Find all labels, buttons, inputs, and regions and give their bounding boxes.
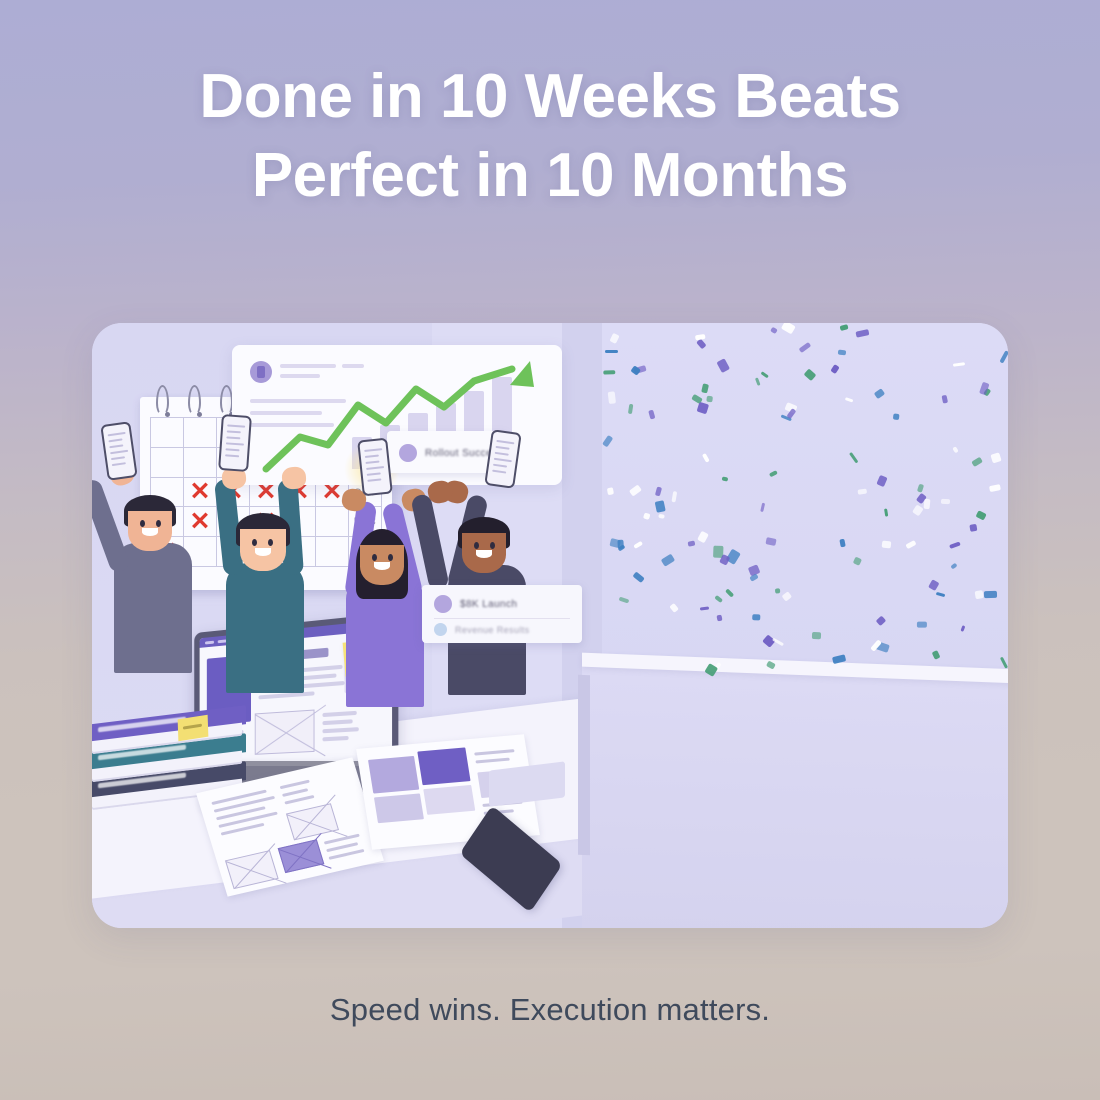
confetti-piece: [917, 622, 927, 628]
confetti-piece: [700, 606, 709, 610]
calendar-x-mark: ✕: [190, 509, 211, 534]
person-eye: [156, 520, 161, 527]
person-torso: [226, 563, 304, 693]
illustration-scene: ✕✕✕✕✕✕JAN✕✕✕✕✕OCT✕✕DEC✕: [92, 323, 1008, 928]
confetti-piece: [655, 500, 666, 512]
headline-line-1: Done in 10 Weeks Beats: [199, 62, 900, 131]
calendar-day-cell: ✕: [184, 507, 217, 537]
person-eye: [140, 520, 145, 527]
book-spine-label: [98, 717, 186, 733]
person-eye: [268, 539, 273, 546]
confetti-piece: [882, 540, 892, 548]
confetti-piece: [607, 391, 615, 403]
calendar-spiral-ring: [188, 385, 201, 415]
confetti-piece: [602, 370, 614, 375]
sign-secondary-icon: [434, 623, 447, 636]
confetti-piece: [984, 590, 997, 597]
raised-phone: [357, 438, 393, 497]
caption: Speed wins. Execution matters.: [0, 992, 1100, 1028]
card-badge-icon: [399, 444, 417, 462]
page-title: Done in 10 Weeks Beats Perfect in 10 Mon…: [0, 58, 1100, 215]
confetti-piece: [606, 487, 614, 495]
confetti-piece: [751, 614, 760, 621]
illustration-card: ✕✕✕✕✕✕JAN✕✕✕✕✕OCT✕✕DEC✕: [92, 323, 1008, 928]
confetti-piece: [941, 499, 950, 504]
sign-line-1: $8K Launch: [460, 599, 517, 610]
confetti-piece: [974, 590, 983, 599]
calendar-day-cell: [316, 537, 349, 567]
calendar-day-cell: [151, 448, 184, 478]
confetti-piece: [812, 631, 821, 638]
screen-wireframe-placeholder: [255, 710, 315, 755]
calendar-day-cell: ✕: [184, 478, 217, 508]
person-eye: [372, 554, 377, 561]
calendar-spiral-ring: [156, 385, 169, 415]
calendar-day-cell: [151, 418, 184, 448]
raised-phone: [218, 414, 252, 472]
counter-side: [578, 675, 590, 855]
confetti-piece: [617, 540, 624, 550]
person-smile: [255, 548, 271, 556]
person-eye: [388, 554, 393, 561]
person-eye: [474, 542, 479, 549]
confetti-piece: [707, 396, 713, 403]
confetti-piece: [605, 350, 618, 353]
person-eye: [490, 542, 495, 549]
confetti-piece: [893, 413, 900, 420]
calendar-day-cell: [316, 507, 349, 537]
sign-badge-icon: [434, 595, 452, 613]
sign-line-2: Revenue Results: [455, 625, 530, 635]
calendar-day-cell: [184, 418, 217, 448]
calendar-day-cell: [184, 448, 217, 478]
headline-line-2: Perfect in 10 Months: [70, 137, 1030, 216]
person-eye: [252, 539, 257, 546]
counter-front: [582, 665, 1008, 928]
held-result-sign: $8K Launch Revenue Results: [422, 585, 582, 643]
calendar-x-mark: ✕: [190, 479, 211, 504]
